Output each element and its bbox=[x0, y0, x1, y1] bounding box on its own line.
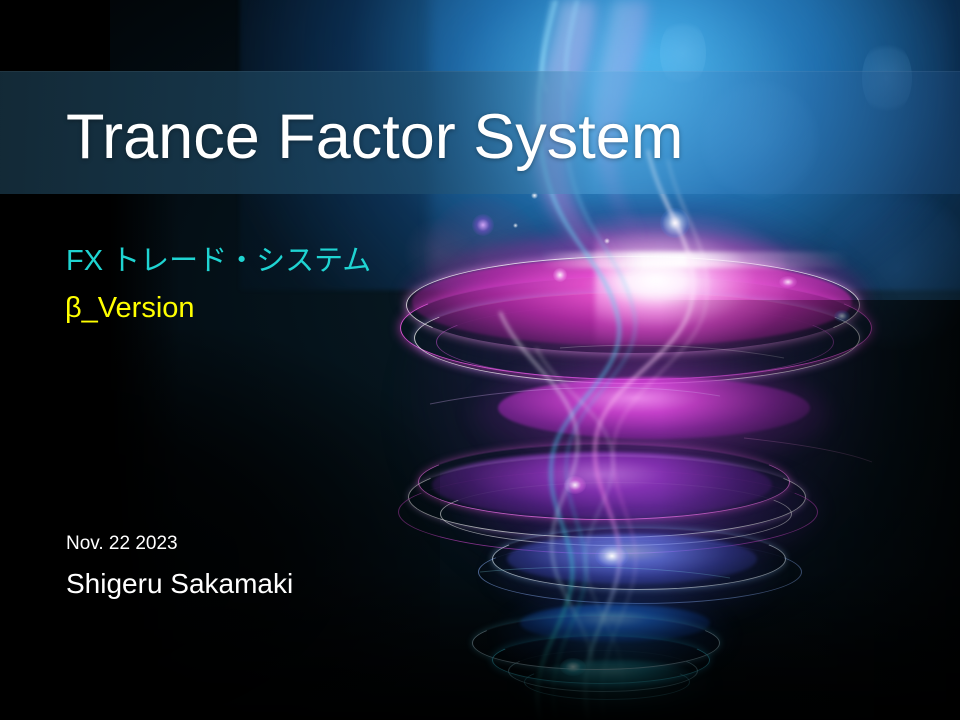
slide-text-content: Trance Factor System FX トレード・システム β_Vers… bbox=[0, 0, 960, 720]
slide-author: Shigeru Sakamaki bbox=[66, 568, 293, 600]
page-title: Trance Factor System bbox=[66, 104, 683, 170]
subtitle-japanese: FX トレード・システム bbox=[66, 237, 371, 279]
slide-date: Nov. 22 2023 bbox=[66, 533, 178, 555]
presentation-slide: Trance Factor System FX トレード・システム β_Vers… bbox=[0, 0, 960, 720]
version-label: β_Version bbox=[65, 292, 195, 325]
